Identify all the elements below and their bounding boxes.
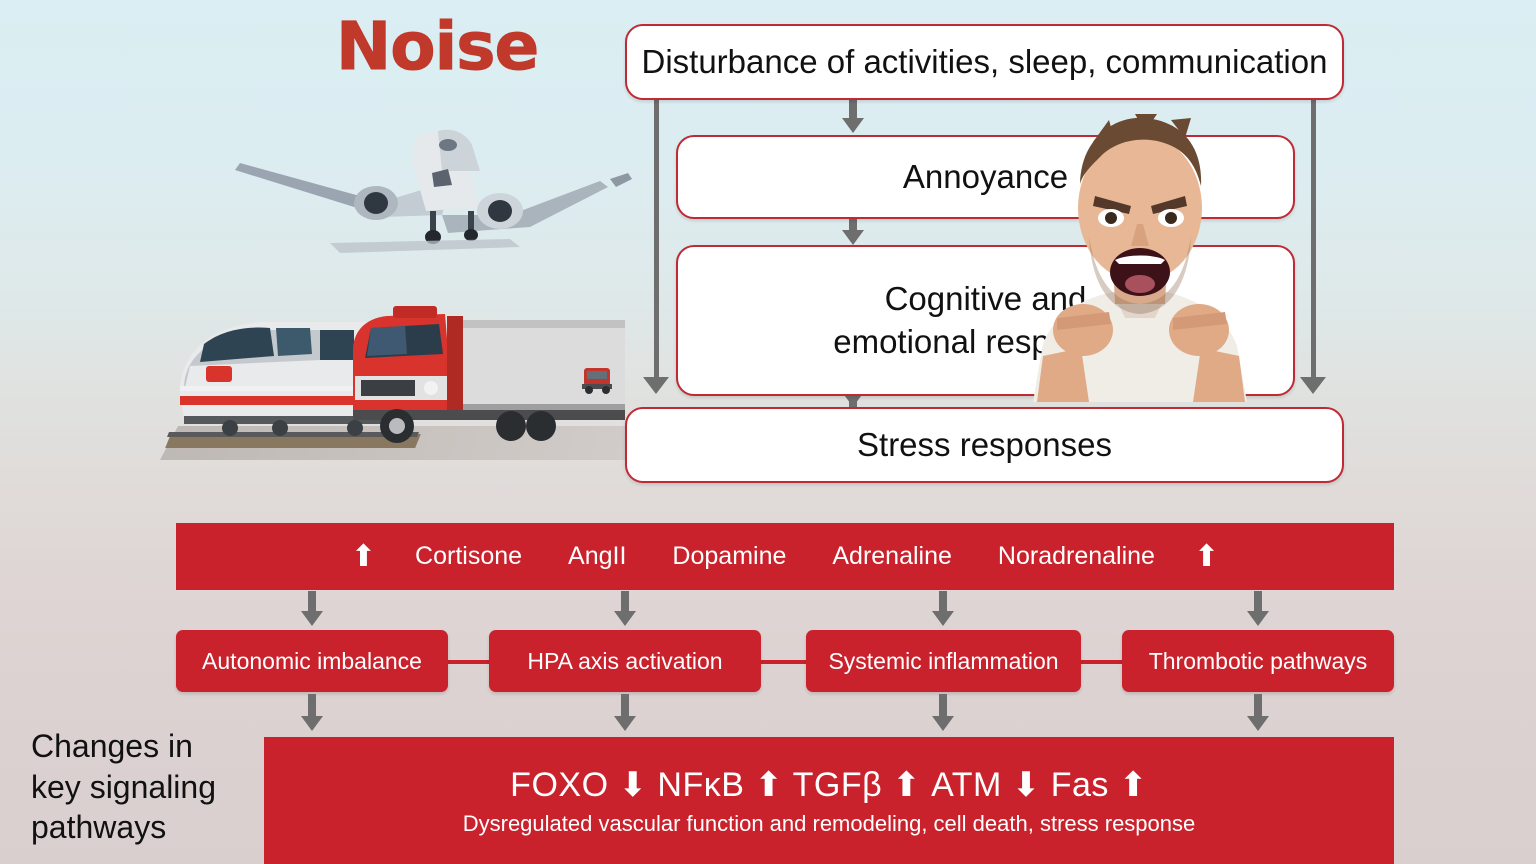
hormone-arrow-left-icon: ⬆ (335, 542, 392, 572)
hormone-item-angii: AngII (545, 542, 649, 571)
pathway-link-2 (1081, 660, 1122, 664)
connector-pathway-0-to-signal-head (301, 716, 323, 731)
connector-pathway-3-to-signal-shaft (1254, 694, 1262, 718)
transport-noise-sources-illustration (160, 110, 660, 470)
page-title: Noise (336, 14, 538, 80)
connector-disturbance-to-annoyance-head (842, 118, 864, 133)
changes-in-key-signaling-pathways-label: Changes in key signaling pathways (31, 726, 246, 848)
connector-bar-to-pathway-2-head (932, 611, 954, 626)
changes-label-line3: pathways (31, 807, 246, 848)
connector-pathway-3-to-signal-head (1247, 716, 1269, 731)
connector-pathway-2-to-signal-shaft (939, 694, 947, 718)
connector-pathway-0-to-signal-shaft (308, 694, 316, 718)
pathway-box-autonomic-imbalance: Autonomic imbalance (176, 630, 448, 692)
connector-pathway-1-to-signal-head (614, 716, 636, 731)
connector-bar-to-pathway-0-head (301, 611, 323, 626)
angry-man-image (985, 112, 1285, 402)
connector-bar-to-pathway-3-head (1247, 611, 1269, 626)
pathway-box-thrombotic-pathways: Thrombotic pathways (1122, 630, 1394, 692)
pathway-link-1 (761, 660, 806, 664)
pathway-box-systemic-inflammation: Systemic inflammation (806, 630, 1081, 692)
connector-bar-to-pathway-0-shaft (308, 591, 316, 613)
connector-right-vertical (1311, 95, 1316, 377)
diagram-canvas: Noise (0, 0, 1536, 864)
box-stress-responses: Stress responses (625, 407, 1344, 483)
hormone-bar: ⬆ Cortisone AngII Dopamine Adrenaline No… (176, 523, 1394, 590)
connector-bar-to-pathway-1-head (614, 611, 636, 626)
car-icon (578, 360, 618, 396)
hormone-arrow-right-icon: ⬆ (1178, 542, 1235, 572)
connector-pathway-1-to-signal-shaft (621, 694, 629, 718)
pathway-box-hpa-axis-activation: HPA axis activation (489, 630, 761, 692)
connector-left-arrowhead (643, 377, 669, 394)
hormone-item-cortisone: Cortisone (392, 542, 545, 571)
connector-bar-to-pathway-2-shaft (939, 591, 947, 613)
hormone-item-noradrenaline: Noradrenaline (975, 542, 1178, 571)
pathway-link-0 (448, 660, 489, 664)
hormone-item-dopamine: Dopamine (649, 542, 809, 571)
connector-annoyance-to-cognitive-head (842, 230, 864, 245)
connector-bar-to-pathway-1-shaft (621, 591, 629, 613)
signaling-genes-row: FOXO ⬇ NFκB ⬆ TGFβ ⬆ ATM ⬇ Fas ⬆ (510, 765, 1148, 805)
hormone-item-adrenaline: Adrenaline (809, 542, 975, 571)
connector-left-vertical (654, 95, 659, 377)
signaling-pathways-box: FOXO ⬇ NFκB ⬆ TGFβ ⬆ ATM ⬇ Fas ⬆ Dysregu… (264, 737, 1394, 864)
airplane-icon (180, 115, 650, 275)
signaling-subtitle: Dysregulated vascular function and remod… (463, 811, 1196, 837)
changes-label-line1: Changes in (31, 726, 246, 767)
connector-pathway-2-to-signal-head (932, 716, 954, 731)
connector-right-arrowhead (1300, 377, 1326, 394)
changes-label-line2: key signaling (31, 767, 246, 808)
connector-bar-to-pathway-3-shaft (1254, 591, 1262, 613)
box-disturbance: Disturbance of activities, sleep, commun… (625, 24, 1344, 100)
